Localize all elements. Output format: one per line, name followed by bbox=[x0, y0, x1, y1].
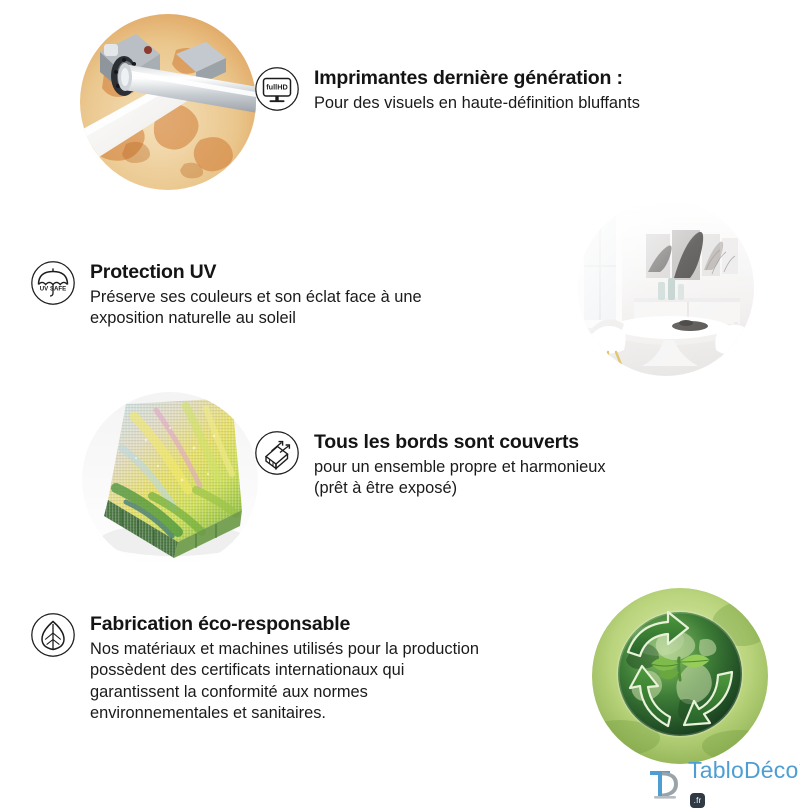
feature-text-block: Imprimantes dernière génération : Pour d… bbox=[314, 66, 640, 114]
brand-logo[interactable]: TabloDéco™.fr bbox=[648, 757, 800, 811]
feature-title: Imprimantes dernière génération : bbox=[314, 67, 640, 90]
feature-text-block: Fabrication éco-responsable Nos matériau… bbox=[90, 612, 479, 724]
feature-uv-protection: UV SAFE Protection UV Préserve ses coule… bbox=[30, 260, 422, 330]
infographic-canvas: fullHD Imprimantes dernière génération :… bbox=[0, 0, 800, 800]
description-line: garantissent la conformité aux normes bbox=[90, 682, 479, 703]
description-line: possèdent des certificats internationaux… bbox=[90, 660, 479, 681]
feature-eco-manufacturing: Fabrication éco-responsable Nos matériau… bbox=[30, 612, 479, 724]
printer-photo bbox=[80, 14, 256, 190]
feature-text-block: Protection UV Préserve ses couleurs et s… bbox=[90, 260, 422, 330]
description-line: environnementales et sanitaires. bbox=[90, 703, 479, 724]
description-line: Nos matériaux et machines utilisés pour … bbox=[90, 639, 479, 660]
canvas-edge-photo bbox=[82, 392, 258, 568]
brand-name: TabloDéco bbox=[688, 757, 798, 783]
leaf-icon bbox=[30, 612, 76, 658]
feature-description: Préserve ses couleurs et son éclat face … bbox=[90, 287, 422, 330]
feature-title: Tous les bords sont couverts bbox=[314, 431, 606, 454]
feature-title: Fabrication éco-responsable bbox=[90, 613, 479, 636]
brand-wordmark: TabloDéco™.fr bbox=[688, 757, 800, 811]
td-monogram-icon bbox=[648, 768, 682, 800]
description-line: Préserve ses couleurs et son éclat face … bbox=[90, 287, 422, 308]
feature-printers: fullHD Imprimantes dernière génération :… bbox=[254, 66, 640, 114]
feature-covered-edges: Tous les bords sont couverts pour un ens… bbox=[254, 430, 606, 500]
domain-badge: .fr bbox=[690, 793, 705, 808]
feature-description: Nos matériaux et machines utilisés pour … bbox=[90, 639, 479, 724]
interior-photo bbox=[578, 200, 754, 376]
fullhd-monitor-icon: fullHD bbox=[254, 66, 300, 112]
feature-text-block: Tous les bords sont couverts pour un ens… bbox=[314, 430, 606, 500]
feature-title: Protection UV bbox=[90, 261, 422, 284]
uv-safe-icon-label: UV SAFE bbox=[40, 286, 66, 293]
fullhd-icon-label: fullHD bbox=[266, 82, 287, 91]
feature-description: Pour des visuels en haute-définition blu… bbox=[314, 93, 640, 114]
description-line: pour un ensemble propre et harmonieux bbox=[314, 457, 606, 478]
uv-safe-umbrella-icon: UV SAFE bbox=[30, 260, 76, 306]
description-line: exposition naturelle au soleil bbox=[90, 308, 422, 329]
eco-globe-photo bbox=[592, 588, 768, 764]
wrapped-edges-icon bbox=[254, 430, 300, 476]
description-line: (prêt à être exposé) bbox=[314, 478, 606, 499]
feature-description: pour un ensemble propre et harmonieux (p… bbox=[314, 457, 606, 500]
description-line: Pour des visuels en haute-définition blu… bbox=[314, 93, 640, 114]
